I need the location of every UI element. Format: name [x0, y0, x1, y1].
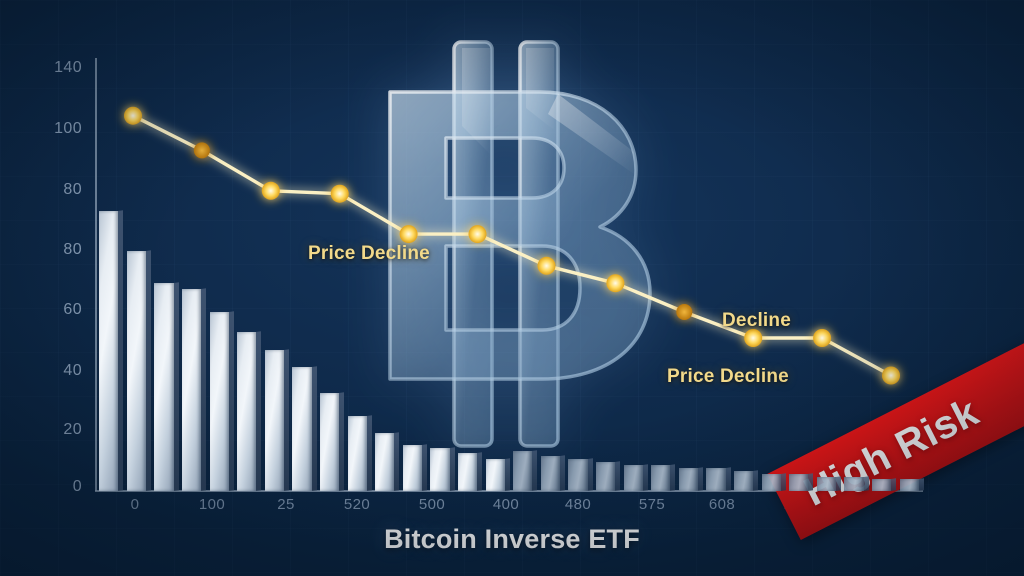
bar: [844, 477, 863, 491]
x-tick-label: 400: [493, 496, 519, 513]
bar: [734, 471, 753, 491]
chart-title: Bitcoin Inverse ETF: [0, 524, 1024, 555]
y-tick-label: 60: [34, 301, 82, 319]
bar: [320, 393, 339, 491]
bar: [237, 332, 256, 491]
y-axis-tick-labels: 140 100 80 80 60 40 20 0: [30, 0, 82, 576]
y-tick-label: 0: [34, 478, 82, 496]
bar: [817, 477, 836, 491]
bar-series: [95, 58, 923, 491]
bar: [265, 350, 284, 491]
y-tick-label: 140: [34, 59, 82, 77]
bar: [348, 416, 367, 491]
y-tick-label: 100: [34, 120, 82, 138]
bar: [154, 283, 173, 491]
bar: [292, 367, 311, 491]
bar: [99, 211, 118, 491]
bar: [458, 453, 477, 491]
bar: [706, 468, 725, 491]
x-tick-label: 0: [131, 496, 140, 513]
bar: [127, 251, 146, 491]
x-tick-label: 480: [565, 496, 591, 513]
annotation-price-decline-1: Price Decline: [308, 243, 430, 265]
x-tick-label: 608: [709, 496, 735, 513]
bar: [900, 479, 919, 491]
bar: [403, 445, 422, 491]
x-tick-label: 25: [277, 496, 295, 513]
x-tick-label: 500: [419, 496, 445, 513]
x-tick-label: 575: [639, 496, 665, 513]
bar: [789, 474, 808, 491]
bar: [541, 456, 560, 491]
annotation-decline: Decline: [722, 310, 791, 332]
y-tick-label: 20: [34, 421, 82, 439]
x-tick-label: 100: [199, 496, 225, 513]
bar: [210, 312, 229, 491]
bar: [762, 474, 781, 491]
y-tick-label: 80: [34, 241, 82, 259]
bar: [375, 433, 394, 491]
chart-canvas: 140 100 80 80 60 40 20 0 0 100 25 520 50…: [0, 0, 1024, 576]
bar: [624, 465, 643, 491]
bar: [568, 459, 587, 491]
y-tick-label: 40: [34, 362, 82, 380]
bar: [430, 448, 449, 491]
bar: [872, 479, 891, 491]
bar: [182, 289, 201, 491]
x-tick-label: 520: [344, 496, 370, 513]
y-tick-label: 80: [34, 181, 82, 199]
bar: [513, 451, 532, 491]
bar: [651, 465, 670, 491]
bar: [486, 459, 505, 491]
bar: [679, 468, 698, 491]
annotation-price-decline-2: Price Decline: [667, 366, 789, 388]
bar: [596, 462, 615, 491]
